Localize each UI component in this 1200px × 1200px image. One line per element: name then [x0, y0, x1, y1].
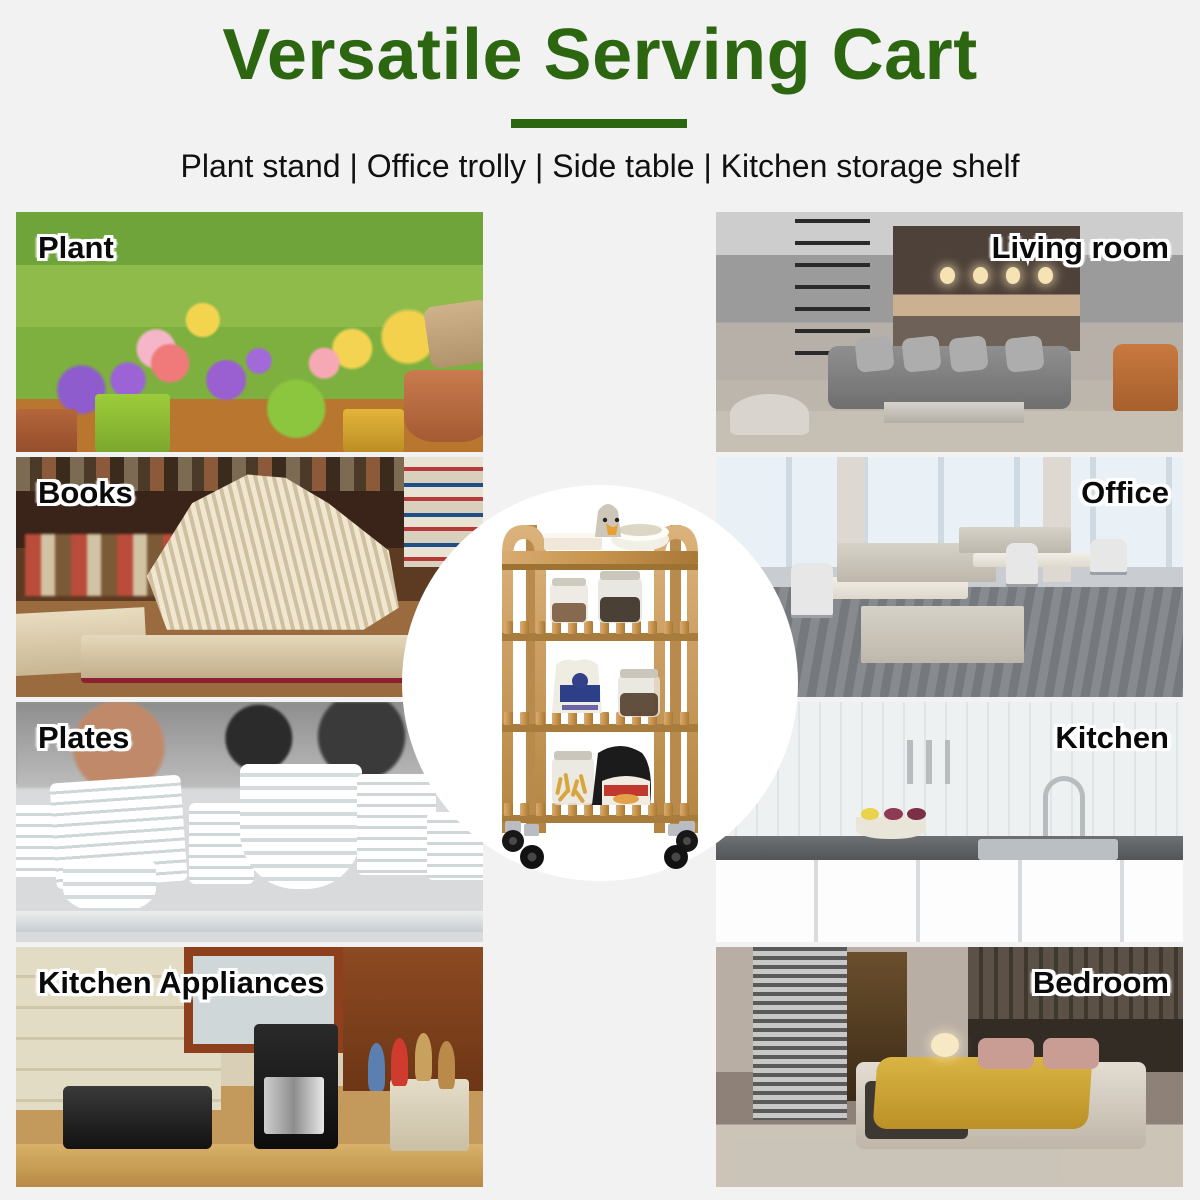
panel-label-kitchen: Kitchen — [1055, 720, 1169, 756]
panel-bedroom: Bedroom — [716, 947, 1183, 1187]
panel-label-plates: Plates — [38, 720, 129, 756]
panel-living-room: Living room — [716, 212, 1183, 452]
panel-plant: Plant — [16, 212, 483, 452]
panel-label-books: Books — [38, 475, 133, 511]
panel-label-bedroom: Bedroom — [1033, 965, 1169, 1001]
panel-label-plant: Plant — [38, 230, 114, 266]
infographic-page: Versatile Serving Cart Plant stand | Off… — [0, 0, 1200, 1200]
product-image-serving-cart — [402, 485, 798, 885]
panel-label-living-room: Living room — [992, 230, 1169, 266]
panel-label-kitchen-appliances: Kitchen Appliances — [38, 965, 325, 1001]
panel-label-office: Office — [1081, 475, 1169, 511]
panel-kitchen-appliances: Kitchen Appliances — [16, 947, 483, 1187]
